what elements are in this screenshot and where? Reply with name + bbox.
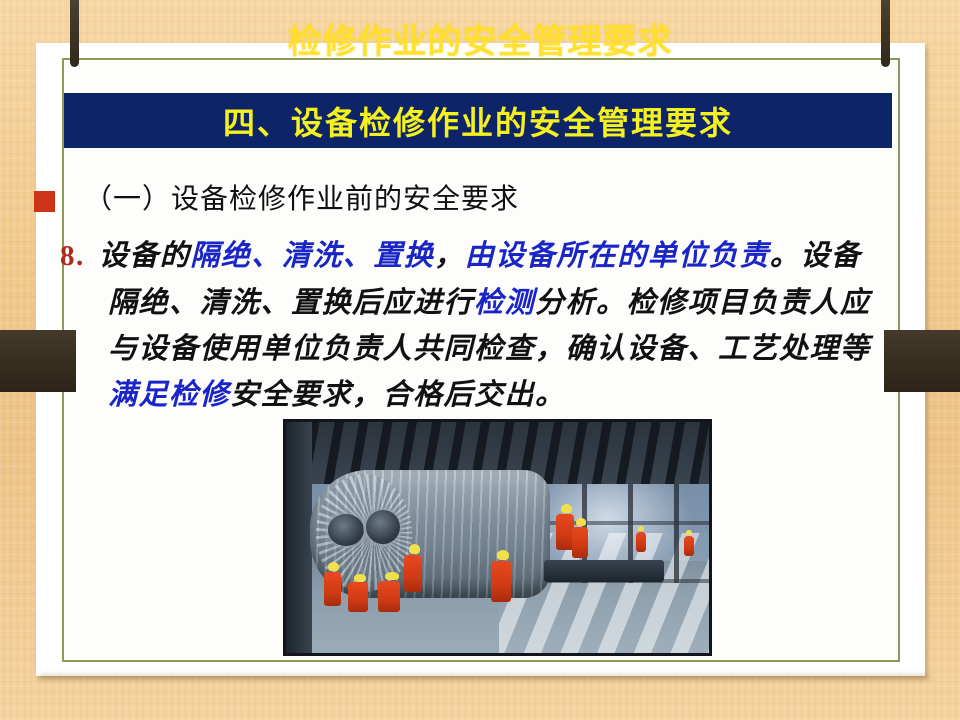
body-text-segment: 由设备所在的单位负责 (465, 238, 770, 272)
photo-worker (636, 526, 646, 552)
photo-worker (348, 574, 368, 612)
body-text-segment: 分析。检修项目负责人应 (535, 285, 871, 319)
photo-worker-helmet-icon (328, 562, 339, 571)
body-line: 8.设备的隔绝、清洗、置换，由设备所在的单位负责。设备 (60, 232, 916, 279)
photo-worker (572, 518, 588, 558)
photo-worker-coverall (684, 536, 694, 556)
photo-worker-helmet-icon (561, 504, 572, 513)
photo-vessel-nozzle-a (328, 514, 364, 546)
decorative-ribbon-left (0, 330, 76, 392)
photo-worker-helmet-icon (385, 572, 399, 580)
photo-worker (404, 544, 422, 592)
photo-worker-helmet-icon (638, 526, 644, 531)
photo-worker-helmet-icon (354, 574, 366, 582)
body-line: 与设备使用单位负责人共同检查，确认设备、工艺处理等 (60, 325, 916, 371)
photo-worker-coverall (404, 555, 422, 592)
banner-title-text: 四、设备检修作业的安全管理要求 (223, 98, 733, 144)
body-text-segment: 设备的 (99, 238, 191, 272)
body-line: 隔绝、清洗、置换后应进行检测分析。检修项目负责人应 (60, 279, 916, 325)
photo-worker-helmet-icon (686, 530, 692, 535)
photo-worker-coverall (324, 572, 341, 606)
paper-shadow (40, 674, 929, 679)
decorative-ribbon-right-cap (881, 0, 890, 67)
body-text-segment: 隔绝、清洗、置换后应进行 (108, 285, 474, 319)
section-banner: 四、设备检修作业的安全管理要求 (64, 93, 892, 148)
photo-left-column (286, 422, 312, 653)
body-text-segment: ， (434, 238, 465, 272)
body-line: 满足检修安全要求，合格后交出。 (60, 371, 916, 417)
photo-pipe-rack (544, 560, 664, 582)
photo-worker-coverall (636, 532, 646, 552)
decorative-ribbon-right (884, 330, 960, 392)
body-text-segment: 。设备 (770, 238, 862, 272)
red-square-bullet-icon (34, 191, 55, 212)
section-heading: （一）设备检修作业前的安全要求 (84, 177, 519, 217)
decorative-ribbon-left-cap (70, 0, 79, 67)
maintenance-scene-photo (283, 419, 712, 656)
photo-vessel-nozzle-b (366, 510, 400, 544)
body-text-segment: 安全要求，合格后交出。 (230, 377, 566, 411)
body-text-segment: 隔绝、清洗、置换 (190, 238, 434, 272)
photo-worker-helmet-icon (409, 544, 420, 554)
body-text-segment: 检测 (474, 285, 535, 319)
body-text-segment: 满足检修 (108, 377, 230, 411)
photo-worker-coverall (491, 561, 511, 602)
photo-worker-helmet-icon (576, 518, 586, 526)
photo-worker (684, 530, 694, 556)
photo-worker (491, 550, 511, 602)
photo-worker (378, 572, 400, 612)
photo-worker-coverall (348, 582, 368, 612)
photo-worker-coverall (572, 527, 588, 558)
body-text-segment: 与设备使用单位负责人共同检查，确认设备、工艺处理等 (108, 331, 871, 365)
item-number: 8. (60, 240, 85, 272)
presentation-slide: 检修作业的安全管理要求 四、设备检修作业的安全管理要求 （一）设备检修作业前的安… (0, 0, 960, 720)
photo-worker (324, 562, 341, 606)
photo-worker-helmet-icon (497, 550, 509, 560)
photo-worker-coverall (378, 581, 400, 612)
body-paragraph: 8.设备的隔绝、清洗、置换，由设备所在的单位负责。设备隔绝、清洗、置换后应进行检… (60, 232, 916, 417)
